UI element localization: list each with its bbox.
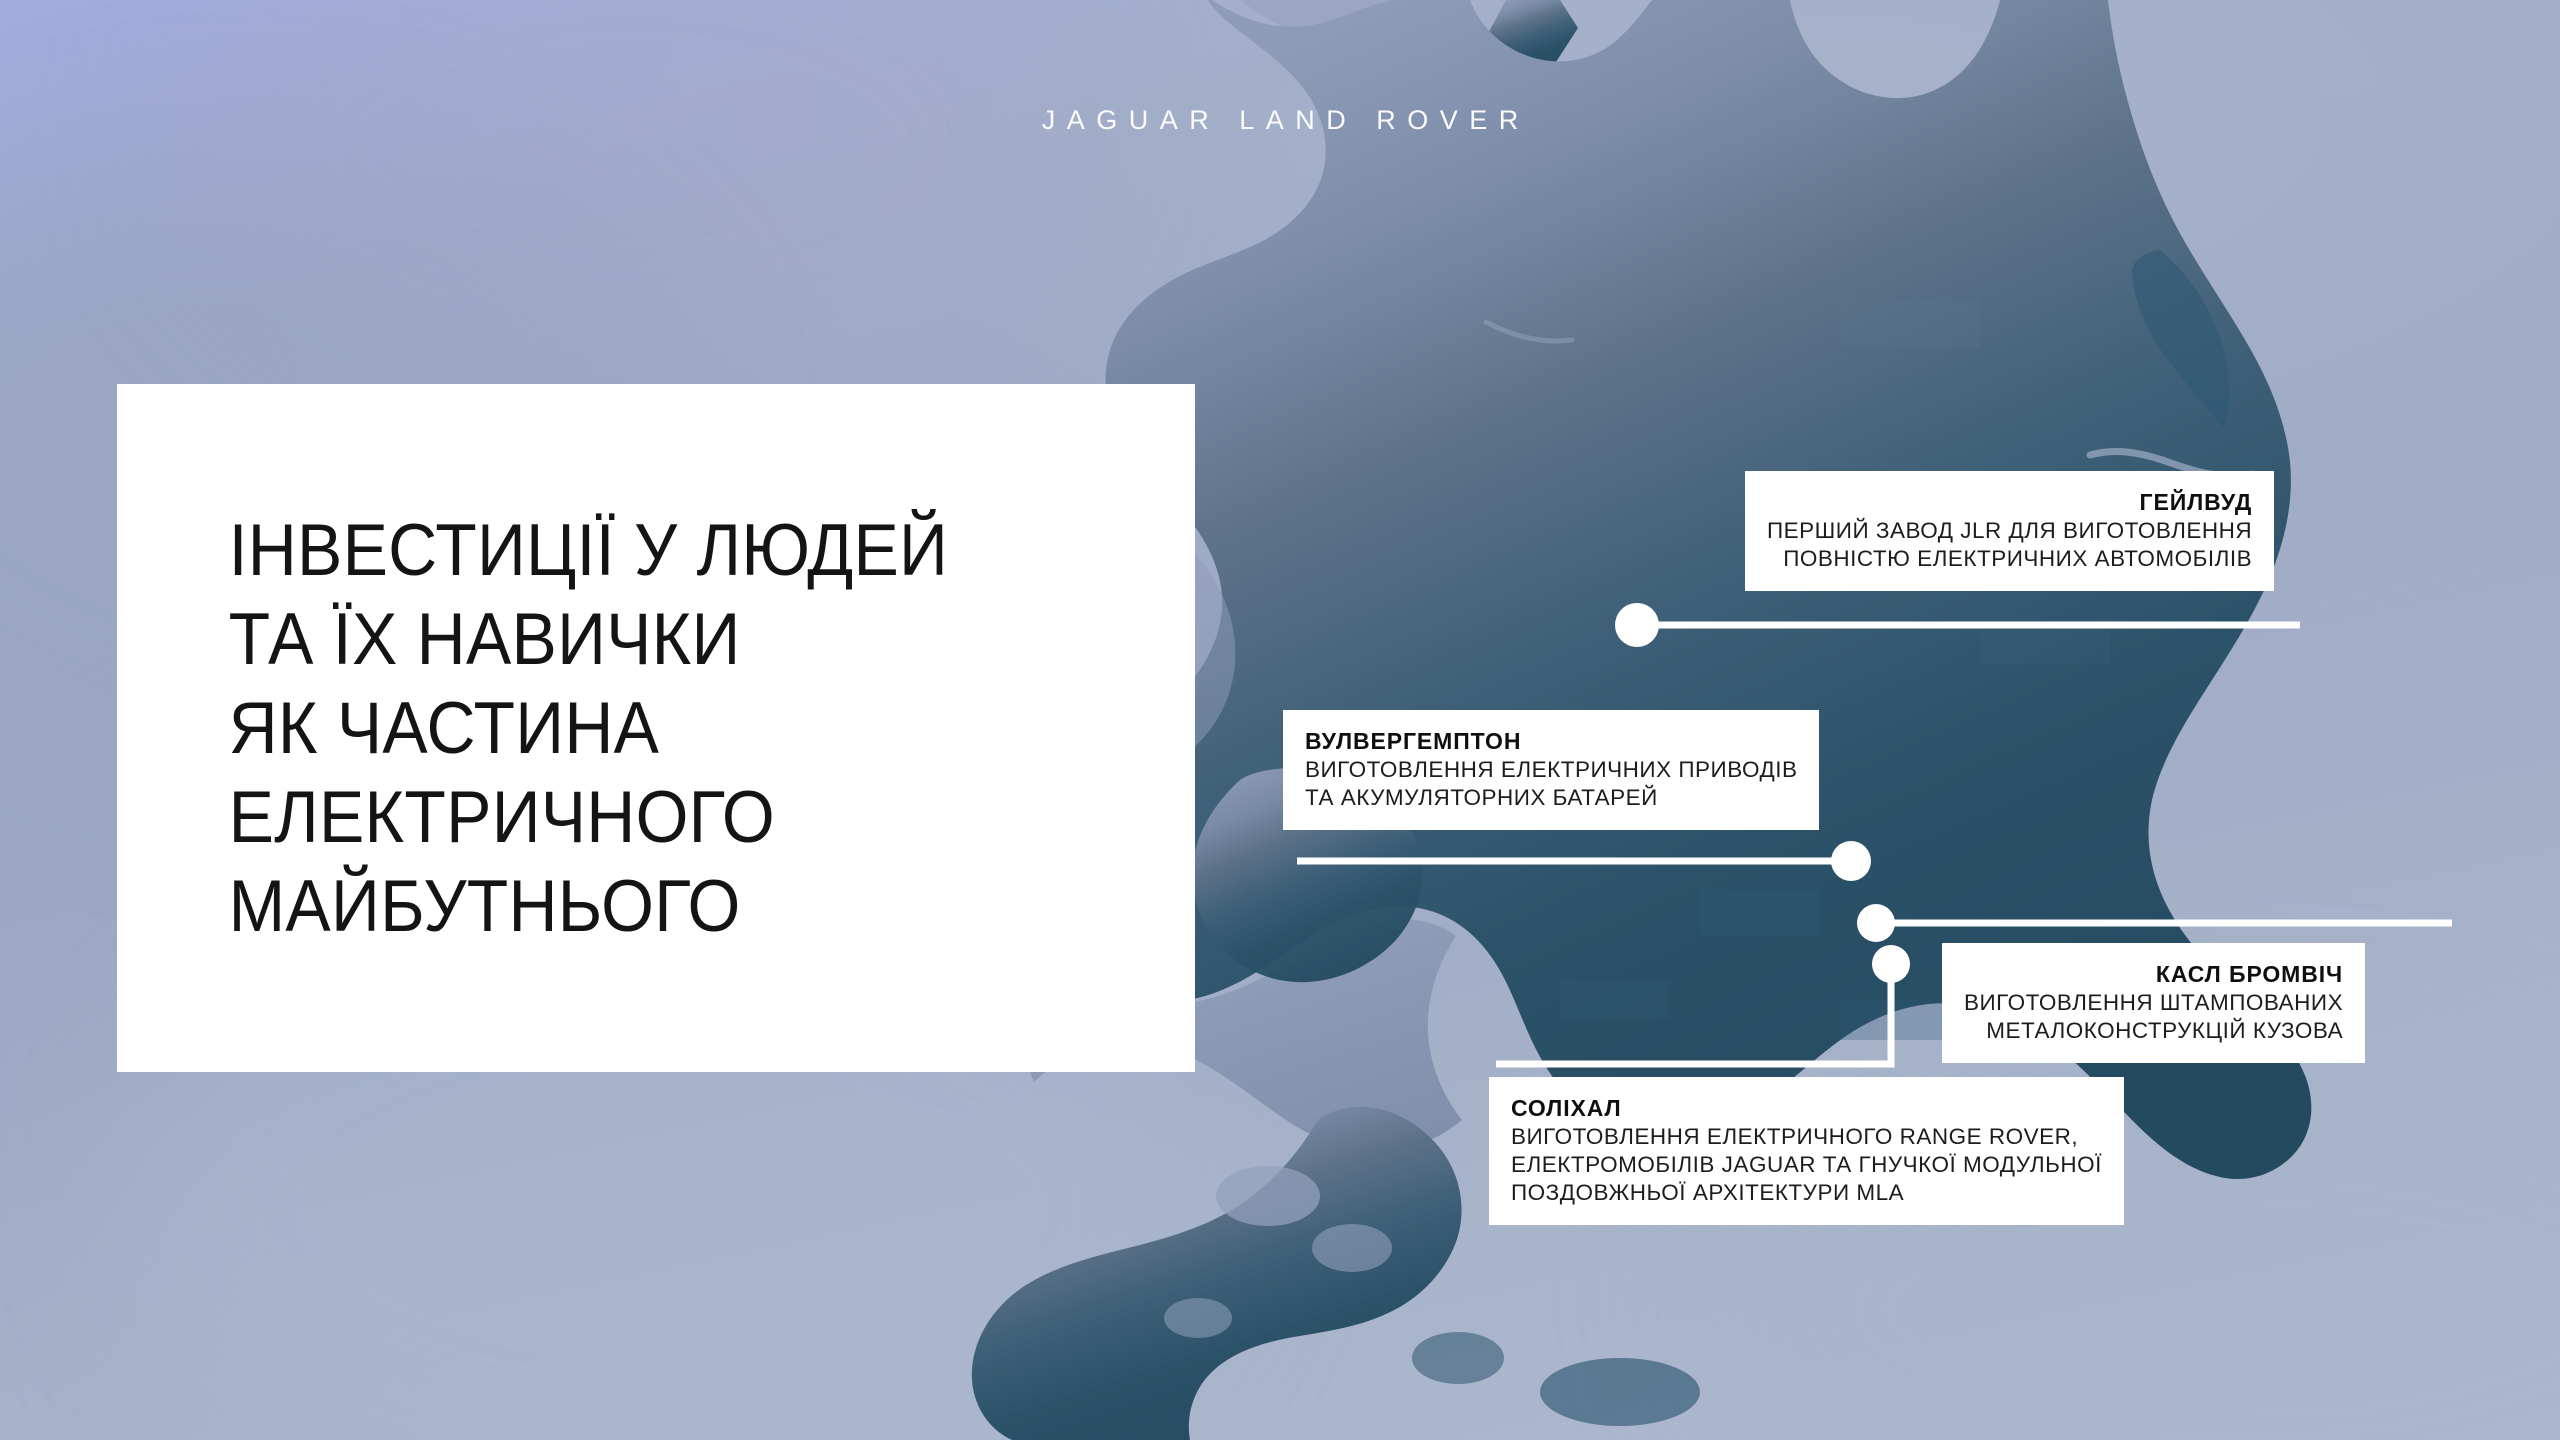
callout-title: СОЛІХАЛ [1511,1093,2102,1123]
callout-title: ГЕЙЛВУД [1767,487,2252,517]
map-texture-patch [1560,980,1670,1018]
callout-body-line: МЕТАЛОКОНСТРУКЦІЙ КУЗОВА [1964,1017,2343,1045]
callout-body-line: ПОВНІСТЮ ЕЛЕКТРИЧНИХ АВТОМОБІЛІВ [1767,545,2252,573]
callout-title: ВУЛВЕРГЕМПТОН [1305,726,1797,756]
headline-line-5: МАЙБУТНЬОГО [229,862,949,951]
callout-body-line: ВИГОТОВЛЕННЯ ЕЛЕКТРИЧНИХ ПРИВОДІВ [1305,756,1797,784]
map-island [1216,1166,1320,1226]
map-island [1412,1332,1504,1384]
callout-solihull[interactable]: СОЛІХАЛ ВИГОТОВЛЕННЯ ЕЛЕКТРИЧНОГО RANGE … [1489,1077,2124,1225]
map-island [1164,1298,1232,1338]
map-southwest-peninsula [972,1107,1462,1440]
map-texture-patch [1700,890,1820,936]
callout-body-line: ВИГОТОВЛЕННЯ ЕЛЕКТРИЧНОГО RANGE ROVER, [1511,1123,2102,1151]
callout-body-line: ЕЛЕКТРОМОБІЛІВ JAGUAR ТА ГНУЧКОЇ МОДУЛЬН… [1511,1151,2102,1179]
page-title: ІНВЕСТИЦІЇ У ЛЮДЕЙ ТА ЇХ НАВИЧКИ ЯК ЧАСТ… [117,506,985,951]
callout-castle-bromwich[interactable]: КАСЛ БРОМВІЧ ВИГОТОВЛЕННЯ ШТАМПОВАНИХ МЕ… [1942,943,2365,1063]
headline-line-4: ЕЛЕКТРИЧНОГО [229,773,949,862]
callout-body-line: ПОЗДОВЖНЬОЇ АРХІТЕКТУРИ MLA [1511,1179,2102,1207]
headline-line-3: ЯК ЧАСТИНА [229,684,949,773]
brand-wordmark: JAGUAR LAND ROVER [0,105,2560,136]
headline-line-2: ТА ЇХ НАВИЧКИ [229,595,949,684]
headline-panel: ІНВЕСТИЦІЇ У ЛЮДЕЙ ТА ЇХ НАВИЧКИ ЯК ЧАСТ… [117,384,1195,1072]
map-island [1540,1358,1700,1426]
callout-wolverhampton[interactable]: ВУЛВЕРГЕМПТОН ВИГОТОВЛЕННЯ ЕЛЕКТРИЧНИХ П… [1283,710,1819,830]
map-island [1312,1224,1392,1272]
slide-canvas: JAGUAR LAND ROVER ІНВЕСТИЦІЇ У ЛЮДЕЙ ТА … [0,0,2560,1440]
headline-line-1: ІНВЕСТИЦІЇ У ЛЮДЕЙ [229,506,949,595]
callout-body-line: ВИГОТОВЛЕННЯ ШТАМПОВАНИХ [1964,989,2343,1017]
callout-title: КАСЛ БРОМВІЧ [1964,959,2343,989]
callout-body-line: ТА АКУМУЛЯТОРНИХ БАТАРЕЙ [1305,784,1797,812]
map-texture-patch [1980,620,2110,664]
callout-body-line: ПЕРШИЙ ЗАВОД JLR ДЛЯ ВИГОТОВЛЕННЯ [1767,517,2252,545]
map-texture-patch [1840,300,1980,348]
callout-halewood[interactable]: ГЕЙЛВУД ПЕРШИЙ ЗАВОД JLR ДЛЯ ВИГОТОВЛЕНН… [1745,471,2274,591]
